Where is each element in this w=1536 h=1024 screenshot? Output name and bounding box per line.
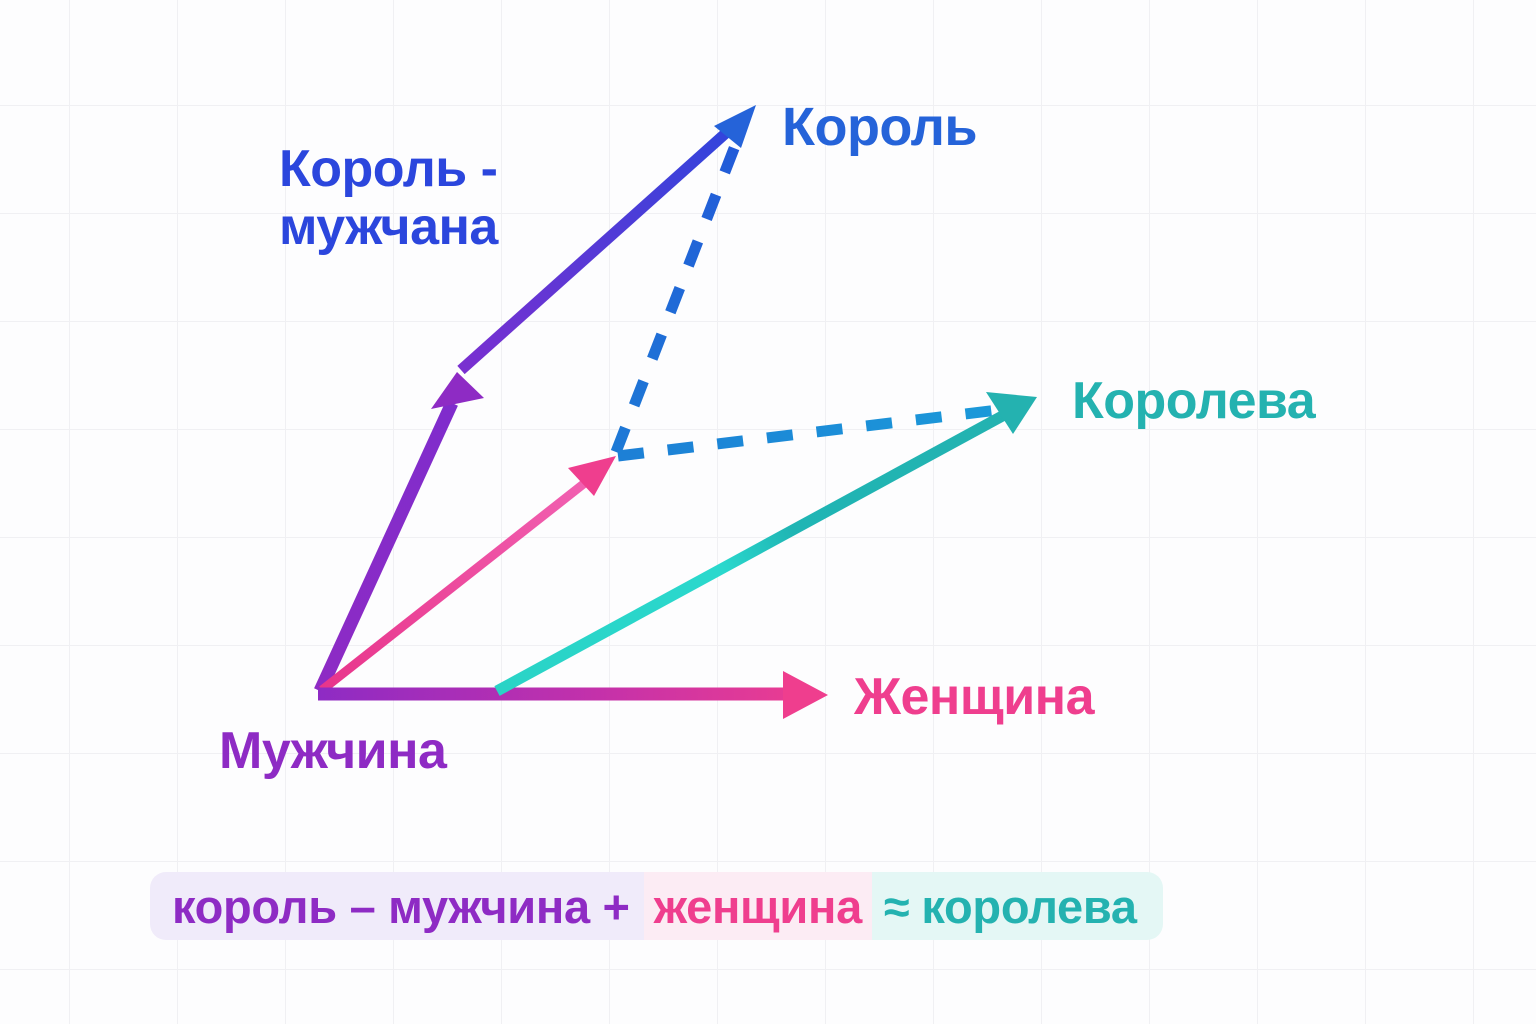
woman-horizontal-vector-arrow xyxy=(318,671,828,719)
equation-approx-symbol: ≈ xyxy=(884,879,922,934)
equation-bar: король – мужчина + женщина ≈королева xyxy=(150,872,1163,940)
man-vector-arrow xyxy=(320,372,484,691)
king-vector-arrow xyxy=(461,105,756,370)
vector-arrows-svg xyxy=(0,0,1536,1024)
equation-segment-right: ≈королева xyxy=(872,872,1163,940)
label-king: Король xyxy=(782,96,977,158)
equation-segment-middle: женщина xyxy=(644,872,872,940)
diagram-canvas: Король -мужчана Король Королева Женщина … xyxy=(0,0,1536,1024)
label-woman: Женщина xyxy=(854,667,1094,727)
label-king-minus-man-line1: Король - xyxy=(279,140,498,198)
equation-segment-left: король – мужчина + xyxy=(150,872,644,940)
label-king-minus-man-line2: мужчана xyxy=(279,198,498,256)
label-man: Мужчина xyxy=(219,721,446,781)
equation-result-word: королева xyxy=(921,879,1136,934)
label-king-minus-man: Король -мужчана xyxy=(279,140,498,256)
label-queen: Королева xyxy=(1072,371,1315,431)
